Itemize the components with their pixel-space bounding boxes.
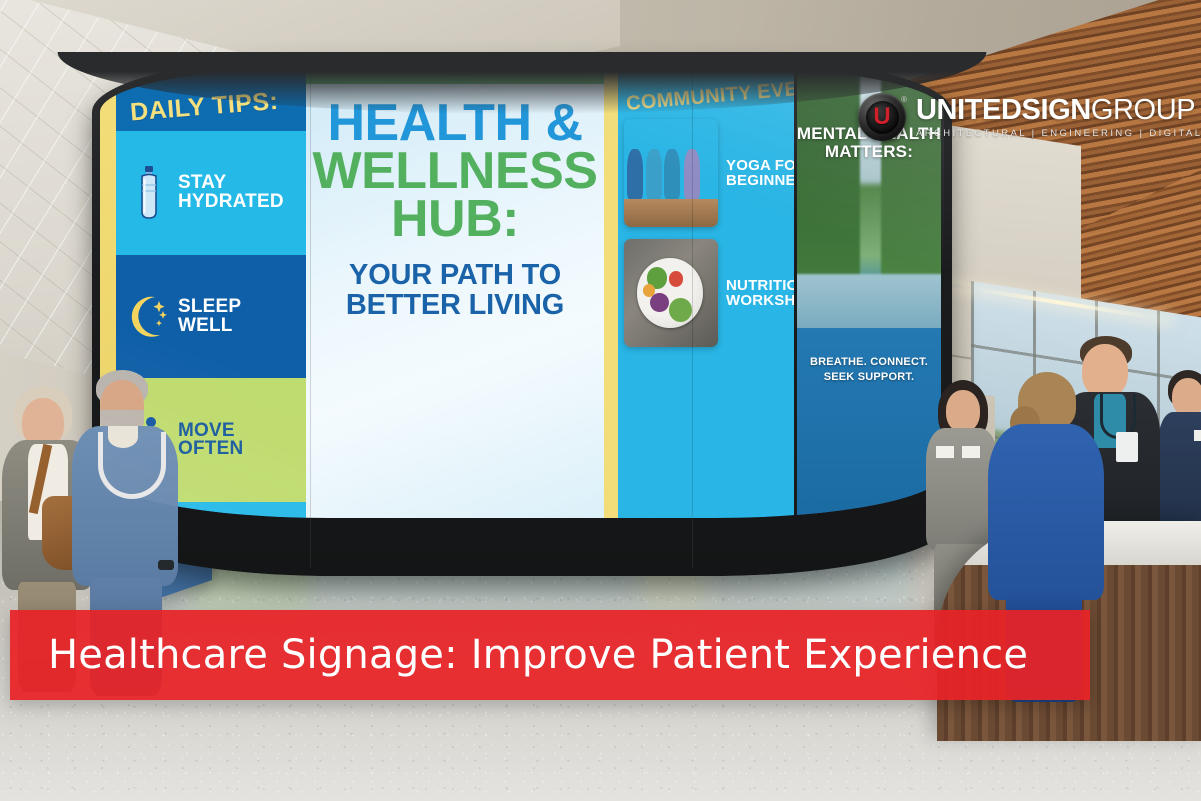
event-label-nutrition: NUTRITION WORKSHOP <box>726 278 794 309</box>
yoga-class-photo <box>624 119 718 227</box>
salad-bowl-photo <box>624 239 718 347</box>
curved-led-video-wall[interactable]: DAILY TIPS: STAY HYDRAT <box>92 56 952 576</box>
bezel-seam-1 <box>310 512 311 568</box>
crescent-moon-icon <box>129 294 169 340</box>
event-label-yoga: YOGA FOR BEGINNERS <box>726 158 794 189</box>
hero-subheadline: YOUR PATH TO BETTER LIVING <box>346 261 564 320</box>
daily-tips-heading: DAILY TIPS: <box>129 86 297 128</box>
banner-title-text: Healthcare Signage: Improve Patient Expe… <box>10 610 1090 700</box>
logo-word-united: UNITED <box>916 94 1022 126</box>
bezel-seam-2 <box>692 512 693 568</box>
title-banner: Healthcare Signage: Improve Patient Expe… <box>10 610 1090 700</box>
hero-headline-line-3: HUB: <box>313 196 598 244</box>
logo-letter-u: U <box>873 105 890 129</box>
tip-label-sleep-well: SLEEP WELL <box>178 298 241 335</box>
tip-label-stay-hydrated: STAY HYDRATED <box>178 174 284 211</box>
video-wall-panel-seam-1 <box>310 66 311 518</box>
tip-label-move-often: MOVE OFTEN <box>178 422 243 459</box>
panel-community-events[interactable]: COMMUNITY EVENTS: YOGA FOR BEGINNERS <box>604 66 794 518</box>
hero-sub-line-1: YOUR PATH TO <box>349 259 561 291</box>
panel-hero[interactable]: HEALTH & WELLNESS HUB: YOUR PATH TO BETT… <box>306 66 604 518</box>
screenshot-root: MENTAL HEALTH BREATHE. CONNECT. SEEK SUP… <box>0 0 1201 801</box>
hero-sub-line-2: BETTER LIVING <box>346 289 564 321</box>
logo-word-sign: SIGN <box>1022 94 1091 126</box>
logo-registered-mark: ® <box>901 95 907 104</box>
hero-top-green-strip <box>306 66 604 84</box>
tip-line-2: WELL <box>178 315 233 336</box>
logo-title-line: UNITEDSIGNGROUP <box>916 95 1201 125</box>
event-item-nutrition[interactable]: NUTRITION WORKSHOP <box>604 233 794 353</box>
logo-u-mark-icon: U ® <box>858 93 906 141</box>
hero-headline-line-1: HEALTH & <box>313 100 598 148</box>
logo-word-group: GROUP <box>1091 94 1195 126</box>
event-item-yoga[interactable]: YOGA FOR BEGINNERS <box>604 113 794 233</box>
event-label-line-2: BEGINNERS <box>726 172 794 189</box>
hero-headline: HEALTH & WELLNESS HUB: <box>313 100 598 243</box>
logo-wordmark: UNITEDSIGNGROUP ARCHITECTURAL | ENGINEER… <box>916 95 1201 139</box>
daily-tips-header: DAILY TIPS: <box>116 66 306 131</box>
logo-tagline: ARCHITECTURAL | ENGINEERING | DIGITAL <box>916 128 1201 139</box>
tip-row-stay-hydrated[interactable]: STAY HYDRATED <box>116 131 306 255</box>
events-left-yellow-strip <box>604 66 618 518</box>
tip-row-sleep-well[interactable]: SLEEP WELL <box>116 255 306 379</box>
hero-headline-line-2: WELLNESS <box>313 148 598 196</box>
logo-inner-disc: U <box>866 101 899 134</box>
event-label-line-2: WORKSHOP <box>726 292 794 309</box>
tip-line-2: HYDRATED <box>178 191 284 212</box>
tip-line-2: OFTEN <box>178 438 243 459</box>
video-wall-screen[interactable]: DAILY TIPS: STAY HYDRAT <box>100 66 944 518</box>
community-events-heading: COMMUNITY EVENTS: <box>625 79 786 116</box>
united-sign-group-logo[interactable]: U ® UNITEDSIGNGROUP ARCHITECTURAL | ENGI… <box>858 88 1158 146</box>
water-bottle-icon <box>129 165 169 221</box>
community-events-header: COMMUNITY EVENTS: <box>604 66 794 113</box>
video-wall-panel-seam-2 <box>692 66 693 518</box>
